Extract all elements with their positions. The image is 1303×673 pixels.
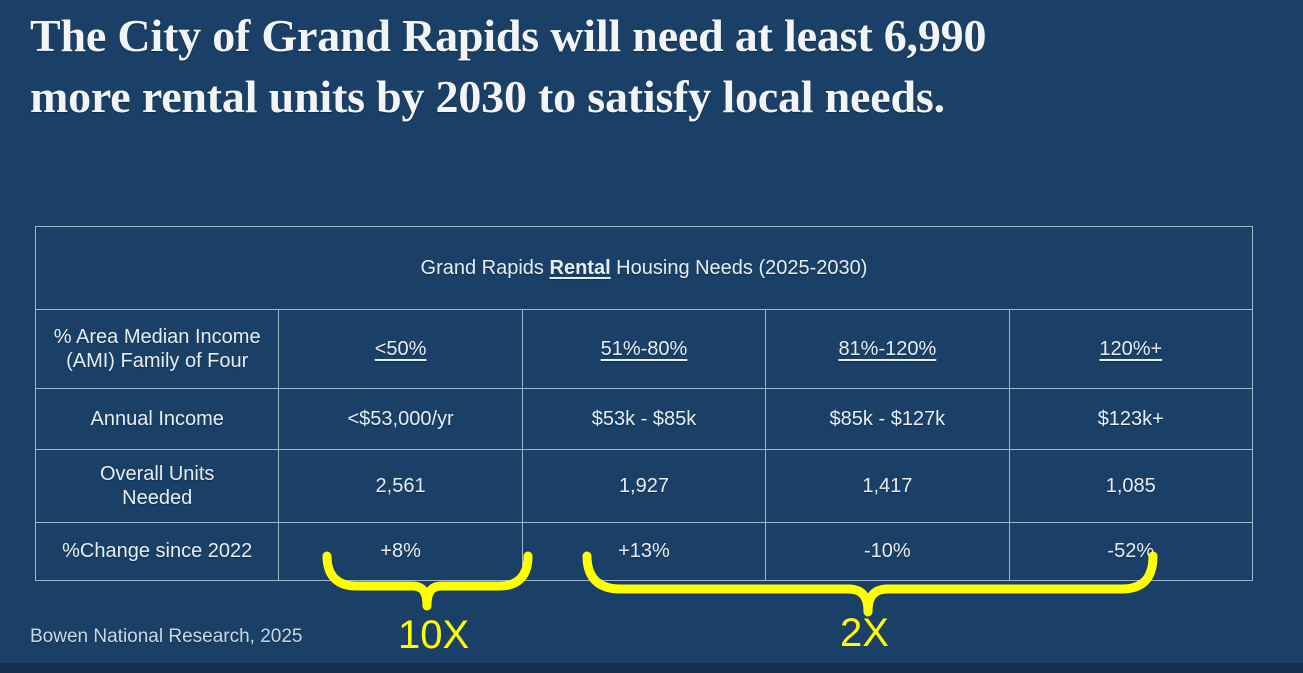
row-label-pct-change: %Change since 2022 [36, 523, 279, 581]
cell-change-4: -52% [1009, 523, 1252, 581]
cell-ami-bracket-4: 120%+ [1009, 310, 1252, 389]
page-title: The City of Grand Rapids will need at le… [30, 6, 1070, 127]
cell-units-3: 1,417 [766, 450, 1009, 523]
cell-change-2: +13% [522, 523, 765, 581]
table-title-prefix: Grand Rapids [421, 257, 550, 279]
annotation-label-2x: 2X [840, 613, 889, 653]
cell-income-3: $85k - $127k [766, 389, 1009, 450]
source-citation: Bowen National Research, 2025 [30, 626, 303, 648]
cell-ami-bracket-3: 81%-120% [766, 310, 1009, 389]
cell-change-3: -10% [766, 523, 1009, 581]
cell-income-2: $53k - $85k [522, 389, 765, 450]
row-label-ami-line1: % Area Median Income [40, 325, 274, 349]
cell-ami-bracket-1: <50% [279, 310, 522, 389]
row-label-units-needed: Overall Units Needed [36, 450, 279, 523]
table-title-row: Grand Rapids Rental Housing Needs (2025-… [36, 227, 1253, 310]
cell-units-4: 1,085 [1009, 450, 1252, 523]
row-label-annual-income: Annual Income [36, 389, 279, 450]
ami-bracket-4-value: 120%+ [1099, 338, 1162, 360]
table-title-suffix: Housing Needs (2025-2030) [611, 257, 868, 279]
slide-canvas: The City of Grand Rapids will need at le… [0, 0, 1303, 673]
ami-bracket-2-value: 51%-80% [601, 338, 688, 360]
table-row: Overall Units Needed 2,561 1,927 1,417 1… [36, 450, 1253, 523]
bottom-edge-strip [0, 663, 1303, 673]
housing-needs-table: Grand Rapids Rental Housing Needs (2025-… [35, 226, 1253, 581]
cell-income-1: <$53,000/yr [279, 389, 522, 450]
table-row: % Area Median Income (AMI) Family of Fou… [36, 310, 1253, 389]
row-label-units-line2: Needed [40, 486, 274, 510]
cell-income-4: $123k+ [1009, 389, 1252, 450]
row-label-units-line1: Overall Units [40, 462, 274, 486]
table-title-emphasis: Rental [550, 257, 611, 279]
cell-ami-bracket-2: 51%-80% [522, 310, 765, 389]
cell-units-2: 1,927 [522, 450, 765, 523]
cell-units-1: 2,561 [279, 450, 522, 523]
row-label-ami-line2: (AMI) Family of Four [40, 349, 274, 373]
ami-bracket-1-value: <50% [375, 338, 427, 360]
ami-bracket-3-value: 81%-120% [838, 338, 936, 360]
table-row: %Change since 2022 +8% +13% -10% -52% [36, 523, 1253, 581]
row-label-ami: % Area Median Income (AMI) Family of Fou… [36, 310, 279, 389]
cell-change-1: +8% [279, 523, 522, 581]
table-title-cell: Grand Rapids Rental Housing Needs (2025-… [36, 227, 1253, 310]
table-row: Annual Income <$53,000/yr $53k - $85k $8… [36, 389, 1253, 450]
annotation-label-10x: 10X [398, 615, 469, 655]
